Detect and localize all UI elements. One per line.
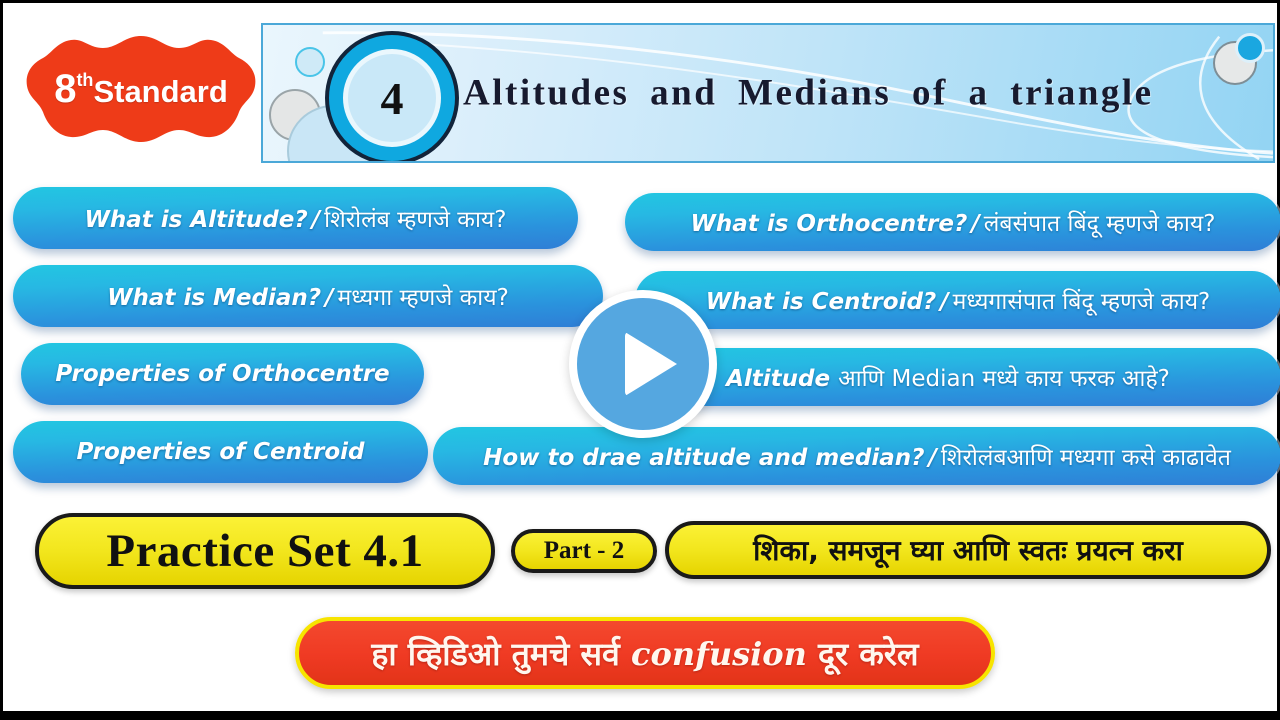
standard-number: 8 (54, 67, 76, 111)
header: 8thStandard 4 Altitudes and Medians of a… (3, 3, 1280, 175)
practice-set-label: Practice Set 4.1 (106, 524, 423, 578)
question-pill-properties-of-orthocentre[interactable]: Properties of Orthocentre (21, 343, 424, 405)
question-label: What is Median?/मध्यगा म्हणजे काय? (101, 280, 515, 312)
confusion-keyword: confusion (631, 635, 807, 673)
question-label: Properties of Centroid (70, 439, 370, 465)
question-label: Altitude आणि Median मध्ये काय फरक आहे? (720, 361, 1176, 393)
part-badge[interactable]: Part - 2 (511, 529, 657, 573)
standard-badge-label: 8thStandard (54, 67, 228, 112)
bubble-small-outline-icon (295, 47, 325, 77)
question-pill-properties-of-centroid[interactable]: Properties of Centroid (13, 421, 428, 483)
confusion-label: हा व्हिडिओ तुमचे सर्व confusion दूर करेल (371, 632, 918, 675)
chapter-number: 4 (343, 49, 441, 147)
question-label: What is Orthocentre?/लंबसंपात बिंदू म्हण… (685, 206, 1222, 238)
question-label: What is Altitude?/शिरोलंब म्हणजे काय? (79, 202, 513, 234)
question-pill-what-is-orthocentre[interactable]: What is Orthocentre?/लंबसंपात बिंदू म्हण… (625, 193, 1280, 251)
play-triangle-icon (625, 332, 677, 396)
page-title: Altitudes and Medians of a triangle (463, 72, 1154, 115)
slide-canvas: 8thStandard 4 Altitudes and Medians of a… (0, 0, 1280, 720)
tagline-badge: शिका, समजून घ्या आणि स्वतः प्रयत्न करा (665, 521, 1271, 579)
standard-word: Standard (93, 74, 227, 109)
corner-bubble-blue-icon (1235, 33, 1265, 63)
practice-set-badge[interactable]: Practice Set 4.1 (35, 513, 495, 589)
question-pill-what-is-centroid[interactable]: What is Centroid?/मध्यगासंपात बिंदू म्हण… (635, 271, 1280, 329)
letterbox-bar (0, 711, 1280, 720)
standard-badge: 8thStandard (25, 34, 257, 144)
question-pill-how-to-draw-altitude-and-median[interactable]: How to drae altitude and median?/शिरोलंब… (433, 427, 1280, 485)
question-label: What is Centroid?/मध्यगासंपात बिंदू म्हण… (700, 284, 1217, 316)
play-button[interactable] (569, 290, 717, 438)
part-label: Part - 2 (544, 537, 625, 565)
tagline-label: शिका, समजून घ्या आणि स्वतः प्रयत्न करा (753, 531, 1183, 569)
chapter-title-panel: 4 Altitudes and Medians of a triangle (261, 23, 1275, 163)
confusion-banner: हा व्हिडिओ तुमचे सर्व confusion दूर करेल (295, 617, 995, 689)
question-pill-what-is-median[interactable]: What is Median?/मध्यगा म्हणजे काय? (13, 265, 603, 327)
standard-ordinal: th (76, 70, 93, 90)
question-label: How to drae altitude and median?/शिरोलंब… (477, 440, 1237, 472)
question-pill-what-is-altitude[interactable]: What is Altitude?/शिरोलंब म्हणजे काय? (13, 187, 578, 249)
question-label: Properties of Orthocentre (49, 361, 395, 387)
